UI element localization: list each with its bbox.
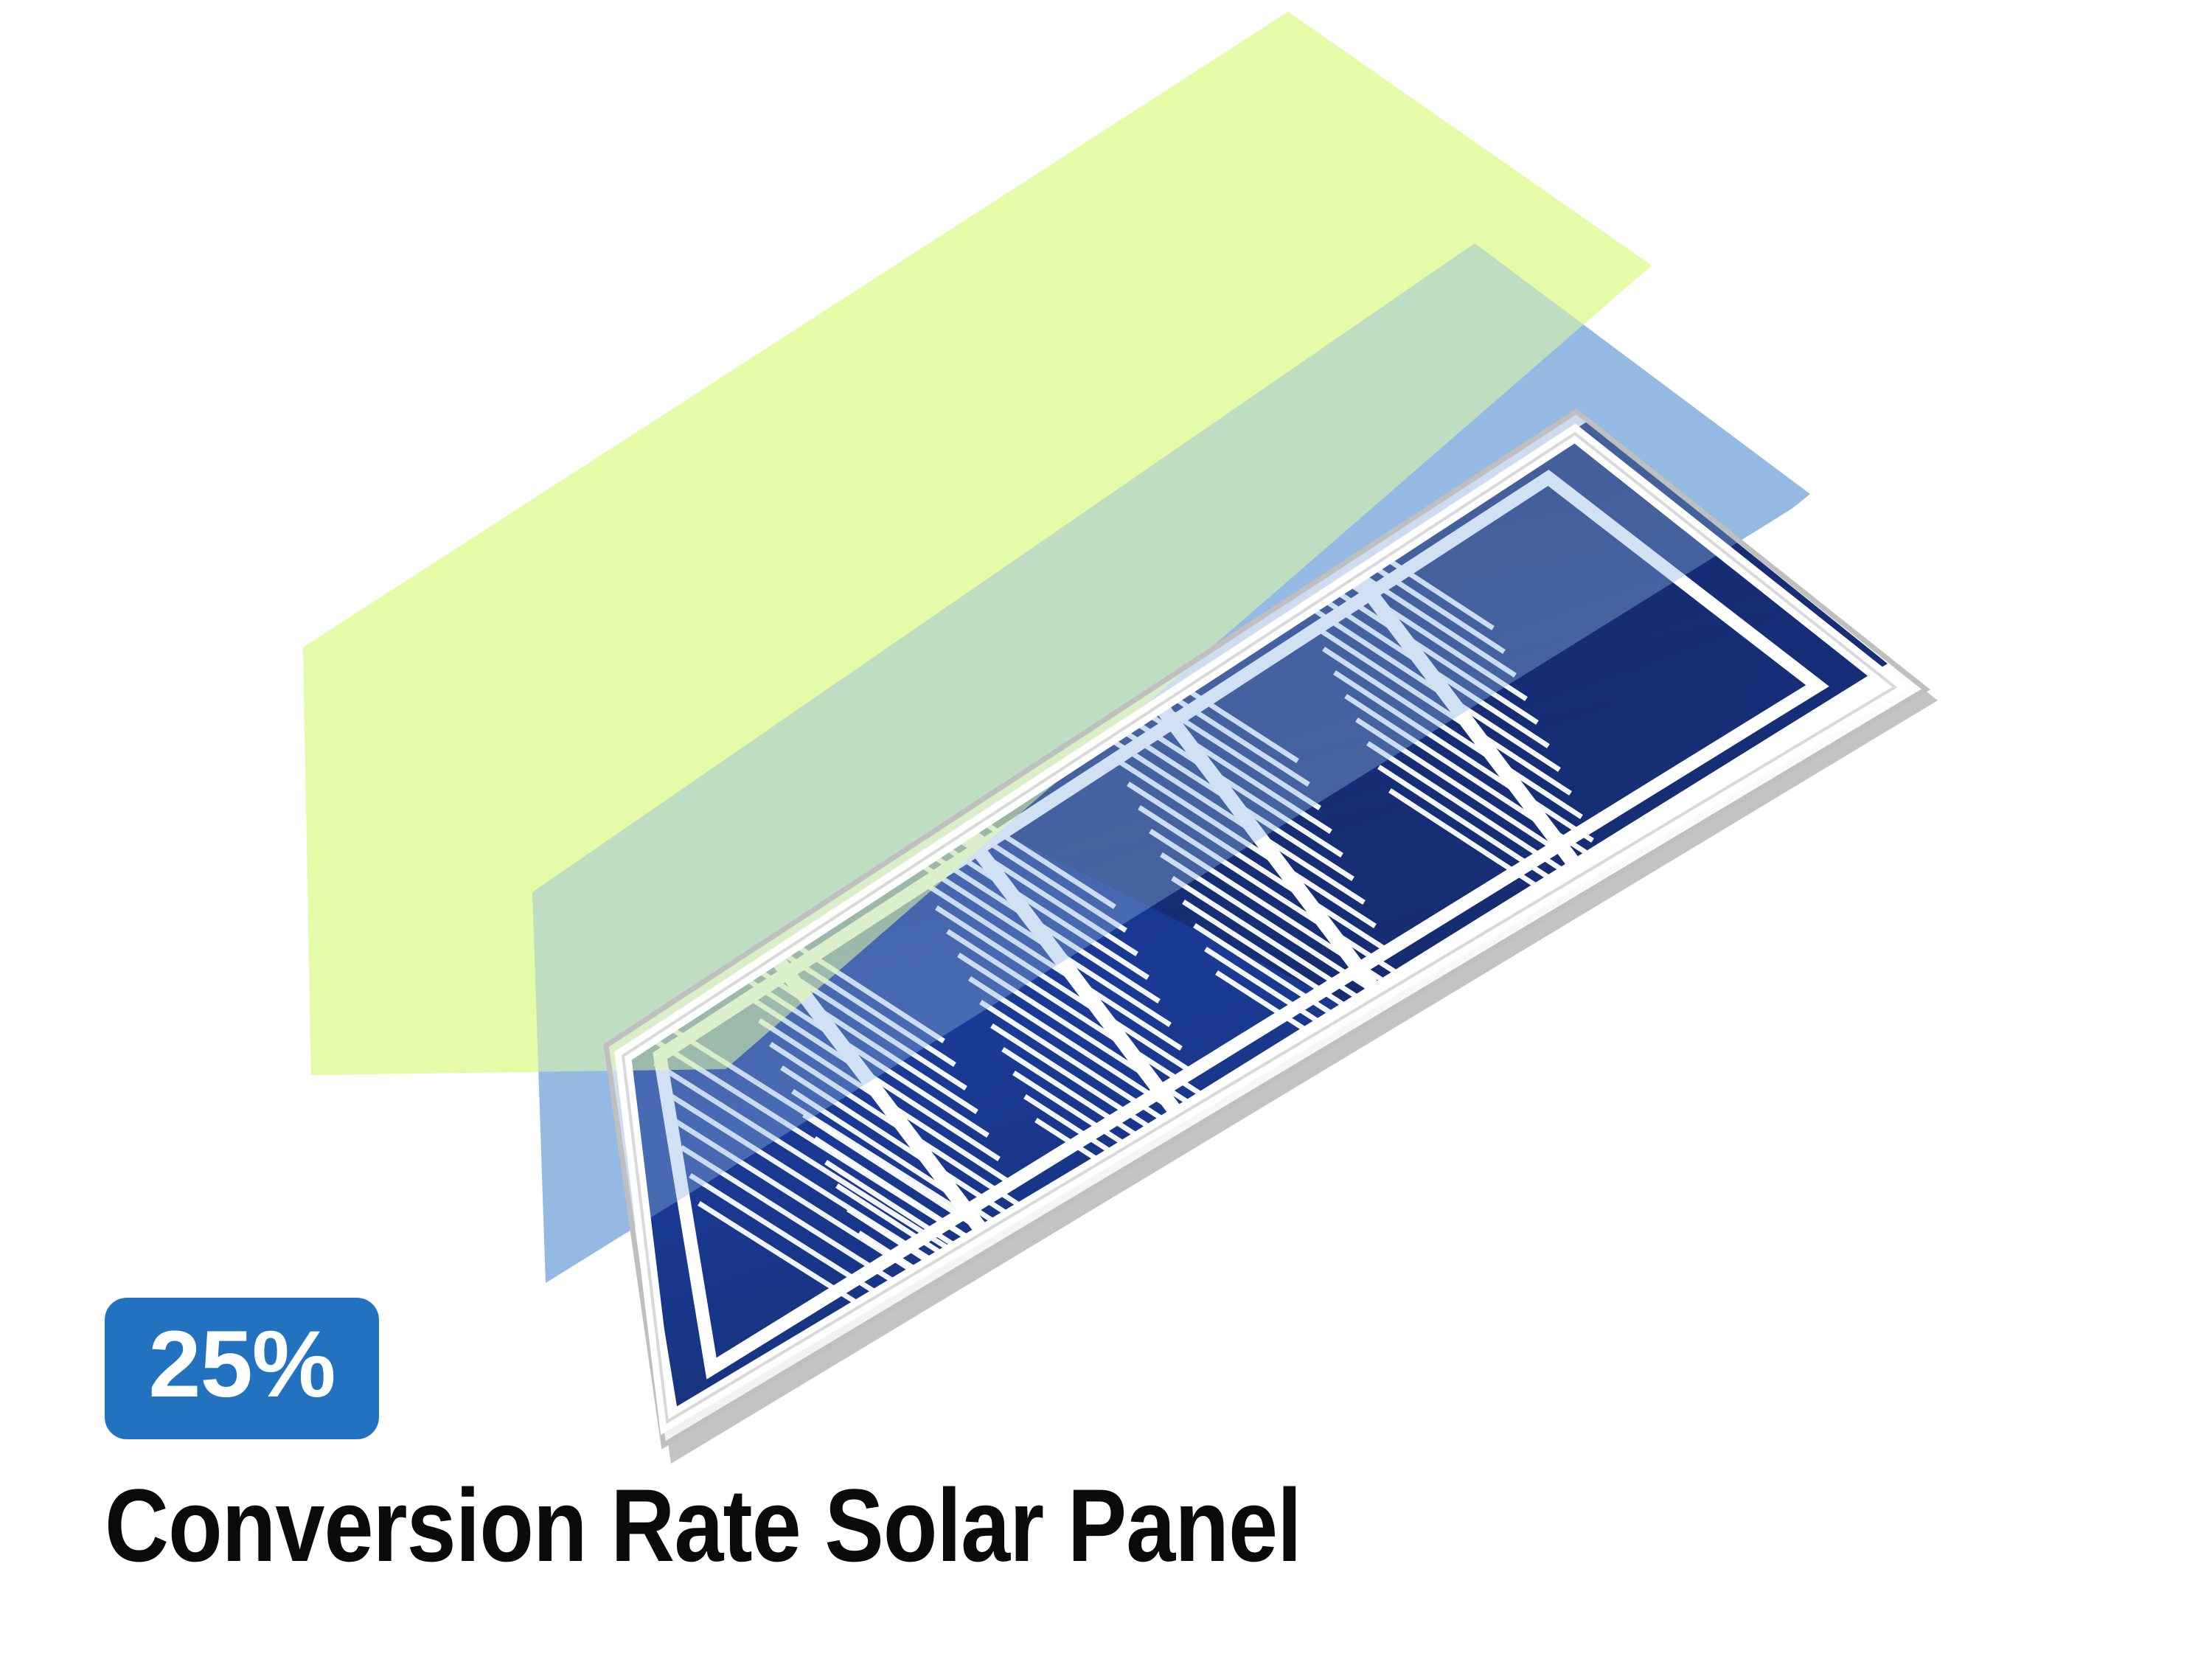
anti-reflective-coating-layer [303, 12, 1652, 1075]
cell-area-outline [660, 478, 1818, 1368]
panel-frame-bezel [606, 411, 1926, 1445]
percent-value: 25% [134, 1310, 349, 1420]
status-badge: 25% [105, 1298, 379, 1439]
glass-cover-layer [532, 243, 1810, 1283]
cell-busbars [693, 439, 1685, 1419]
page-title: Conversion Rate Solar Panel [105, 1470, 1627, 1581]
caption-block: 25% Conversion Rate Solar Panel [105, 1298, 1874, 1581]
overlap-tint [303, 12, 1652, 1075]
solar-panel-infographic: 25% Conversion Rate Solar Panel [0, 0, 2212, 1659]
photovoltaic-cell-array [619, 422, 1888, 1419]
panel-frame [606, 411, 1926, 1445]
glass-cover-overlap [532, 243, 1810, 1283]
